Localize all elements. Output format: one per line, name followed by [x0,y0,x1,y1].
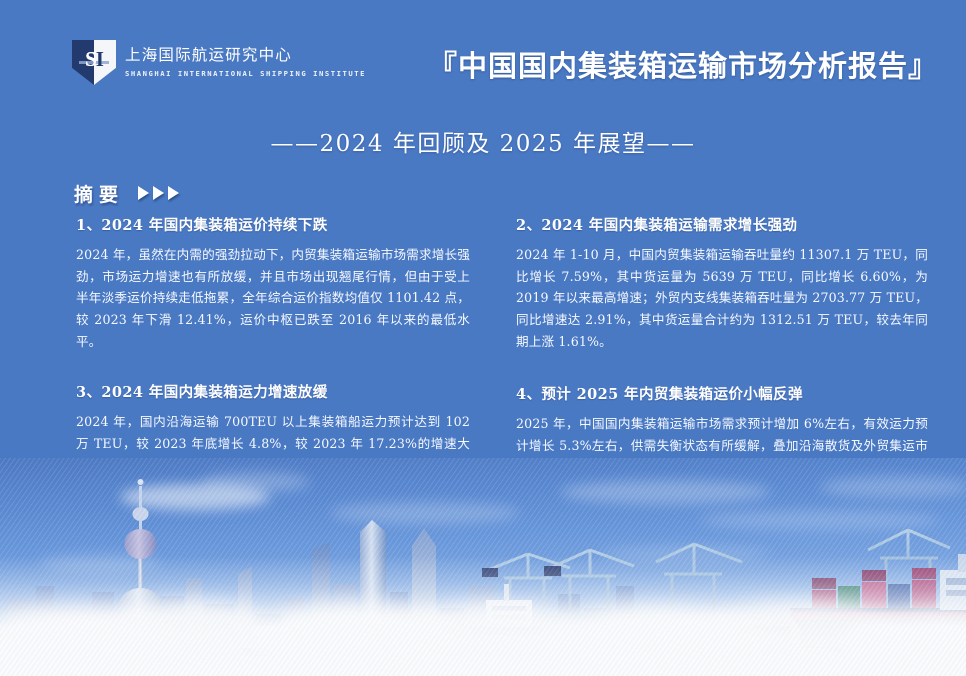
brand-text: 上海国际航运研究中心 SHANGHAI INTERNATIONAL SHIPPI… [125,48,366,77]
section-1-title: 1、2024 年国内集装箱运价持续下跌 [76,214,470,235]
page-subtitle: ——2024 年回顾及 2025 年展望—— [271,124,696,158]
section-3-title: 3、2024 年国内集装箱运力增速放缓 [76,381,470,402]
section-4-title: 4、预计 2025 年内贸集装箱运价小幅反弹 [516,383,928,404]
triangle-right-icon [168,186,179,200]
shanghai-skyline-port-illustration [0,458,966,676]
abstract-label: 摘要 [74,180,124,207]
abstract-content: 1、2024 年国内集装箱运价持续下跌 2024 年，虽然在内需的强劲拉动下，内… [0,214,966,464]
section-2: 2、2024 年国内集装箱运输需求增长强劲 2024 年 1-10 月，中国内贸… [516,214,928,352]
triangle-right-icon [138,186,149,200]
brand-name-en: SHANGHAI INTERNATIONAL SHIPPING INSTITUT… [125,70,366,77]
sisi-shield-logo-icon: SI [72,40,116,85]
section-2-body: 2024 年 1-10 月，中国内贸集装箱运输吞吐量约 11307.1 万 TE… [516,244,928,352]
subtitle-row: ——2024 年回顾及 2025 年展望—— [0,124,966,158]
section-2-title: 2、2024 年国内集装箱运输需求增长强劲 [516,214,928,235]
brand-name-cn: 上海国际航运研究中心 [125,48,366,64]
page-title: 『中国国内集装箱运输市场分析报告』 [428,43,938,85]
section-1-body: 2024 年，虽然在内需的强劲拉动下，内贸集装箱运输市场需求增长强劲，市场运力增… [76,244,470,352]
page-header: SI 上海国际航运研究中心 SHANGHAI INTERNATIONAL SHI… [0,0,966,110]
brand-block: SI 上海国际航运研究中心 SHANGHAI INTERNATIONAL SHI… [72,40,366,85]
fog-layer [0,556,966,676]
triangle-right-icon [153,186,164,200]
report-cover-page: SI 上海国际航运研究中心 SHANGHAI INTERNATIONAL SHI… [0,0,966,676]
section-1: 1、2024 年国内集装箱运价持续下跌 2024 年，虽然在内需的强劲拉动下，内… [76,214,470,352]
abstract-heading-row: 摘要 [74,180,179,207]
triangle-marker-group [138,186,179,201]
